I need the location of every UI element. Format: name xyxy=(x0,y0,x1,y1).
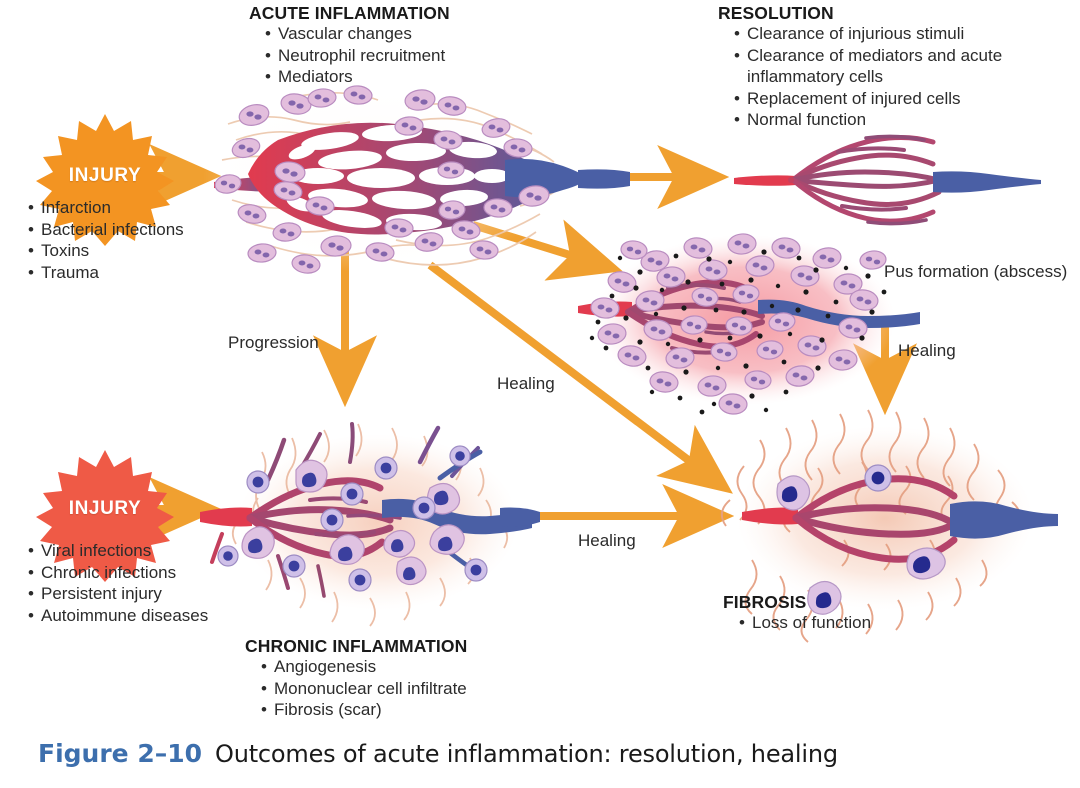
arrow-label-healing-diagonal: Healing xyxy=(497,374,555,394)
list-item: •Clearance of mediators and acute xyxy=(734,45,1002,67)
injury-starburst-top-label: INJURY xyxy=(58,165,152,187)
acute-inflammation-bullets: •Vascular changes •Neutrophil recruitmen… xyxy=(249,23,445,88)
neutrophil-cells xyxy=(214,85,551,275)
collagen-fibers-chronic xyxy=(233,424,507,626)
arrow-acute-to-abscess xyxy=(473,225,612,268)
list-item: •Mediators xyxy=(265,66,445,88)
acute-inflammation-title: ACUTE INFLAMMATION xyxy=(249,3,450,23)
list-item: •Viral infections xyxy=(28,540,208,562)
figure-caption-text: Outcomes of acute inflammation: resoluti… xyxy=(215,740,838,768)
resolution-illustration xyxy=(734,136,1041,223)
injury-top-causes: •Infarction •Bacterial infections •Toxin… xyxy=(28,197,184,283)
acute-inflammation-illustration xyxy=(203,83,630,275)
list-item: •Chronic infections xyxy=(28,562,208,584)
list-item: •Normal function xyxy=(734,109,1002,131)
list-item: •Neutrophil recruitment xyxy=(265,45,445,67)
chronic-inflammation-illustration xyxy=(200,424,540,626)
chronic-inflammation-bullets: •Angiogenesis •Mononuclear cell infiltra… xyxy=(245,656,467,721)
arrow-label-healing-vertical: Healing xyxy=(898,341,956,361)
list-item: •Clearance of injurious stimuli xyxy=(734,23,1002,45)
resolution-title: RESOLUTION xyxy=(718,3,834,23)
list-item: •Replacement of injured cells xyxy=(734,88,1002,110)
list-item: •Vascular changes xyxy=(265,23,445,45)
arrow-label-progression: Progression xyxy=(228,333,319,353)
mononuclear-cells xyxy=(218,446,487,591)
list-item: •Persistent injury xyxy=(28,583,208,605)
arrow-acute-to-fibrosis xyxy=(430,265,724,487)
figure-number: Figure 2–10 xyxy=(38,739,202,768)
list-item: •Mononuclear cell infiltrate xyxy=(261,678,467,700)
list-item: •Autoimmune diseases xyxy=(28,605,208,627)
fibrosis-title: FIBROSIS xyxy=(723,592,806,612)
fibrosis-bullets: •Loss of function xyxy=(723,612,871,634)
list-item-continuation: inflammatory cells xyxy=(734,66,1002,88)
list-item: •Bacterial infections xyxy=(28,219,184,241)
list-item: •Loss of function xyxy=(739,612,871,634)
cropped-top-text xyxy=(0,0,1080,5)
chronic-inflammation-title: CHRONIC INFLAMMATION xyxy=(245,636,467,656)
injury-bottom-causes: •Viral infections •Chronic infections •P… xyxy=(28,540,208,626)
figure-canvas: ACUTE INFLAMMATION •Vascular changes •Ne… xyxy=(0,0,1080,788)
abscess-illustration xyxy=(578,233,920,415)
list-item: •Fibrosis (scar) xyxy=(261,699,467,721)
list-item: •Toxins xyxy=(28,240,184,262)
pus-formation-label: Pus formation (abscess) xyxy=(884,262,1067,282)
abscess-neutrophils xyxy=(590,233,887,415)
bacteria-dots xyxy=(590,249,887,414)
list-item: •Infarction xyxy=(28,197,184,219)
resolution-bullets: •Clearance of injurious stimuli •Clearan… xyxy=(718,23,1002,131)
arrow-label-healing-horizontal: Healing xyxy=(578,531,636,551)
list-item: •Trauma xyxy=(28,262,184,284)
list-item: •Angiogenesis xyxy=(261,656,467,678)
injury-starburst-bottom-label: INJURY xyxy=(58,498,152,520)
